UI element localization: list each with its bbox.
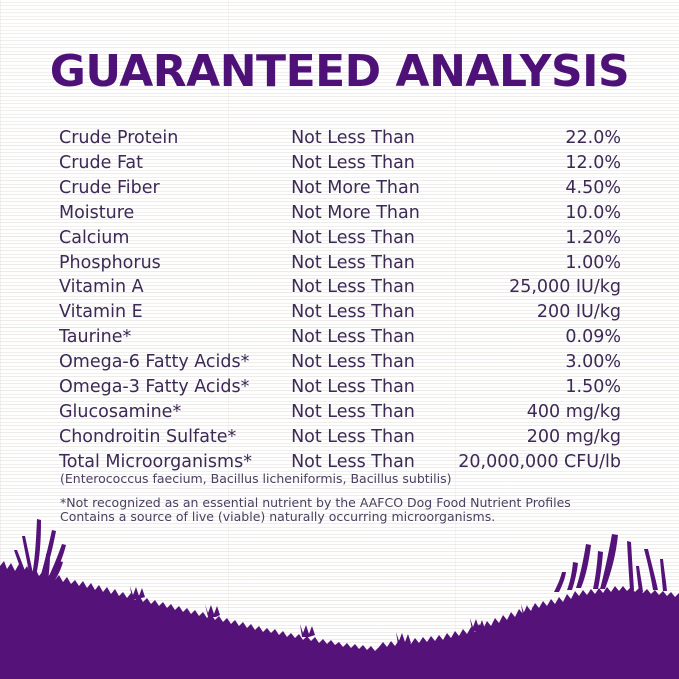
- table-row: Crude Fiber Not More Than 4.50%: [59, 176, 621, 201]
- nutrient-value: 0.09%: [458, 325, 621, 350]
- qualifier-label: Not Less Than: [291, 151, 458, 176]
- qualifier-label: Not Less Than: [291, 325, 458, 350]
- guaranteed-analysis-panel: GUARANTEED ANALYSIS Crude Protein Not Le…: [0, 0, 679, 679]
- table-row: Glucosamine* Not Less Than 400 mg/kg: [59, 400, 621, 425]
- nutrient-label: Phosphorus: [59, 251, 291, 276]
- footnote-aafco: *Not recognized as an essential nutrient…: [60, 496, 640, 511]
- qualifier-label: Not More Than: [291, 201, 458, 226]
- nutrient-value: 200 mg/kg: [458, 425, 621, 450]
- qualifier-label: Not Less Than: [291, 350, 458, 375]
- nutrient-label: Calcium: [59, 226, 291, 251]
- nutrient-label: Moisture: [59, 201, 291, 226]
- nutrient-label: Vitamin E: [59, 300, 291, 325]
- nutrient-value: 1.00%: [458, 251, 621, 276]
- nutrient-value: 10.0%: [458, 201, 621, 226]
- nutrient-value: 200 IU/kg: [458, 300, 621, 325]
- nutrient-value: 400 mg/kg: [458, 400, 621, 425]
- nutrient-value: 20,000,000 CFU/lb: [458, 450, 621, 475]
- table-row: Crude Fat Not Less Than 12.0%: [59, 151, 621, 176]
- grass-silhouette-icon: [0, 514, 679, 679]
- table-row: Calcium Not Less Than 1.20%: [59, 226, 621, 251]
- qualifier-label: Not Less Than: [291, 126, 458, 151]
- nutrient-value: 12.0%: [458, 151, 621, 176]
- nutrient-value: 1.20%: [458, 226, 621, 251]
- nutrient-label: Glucosamine*: [59, 400, 291, 425]
- table-row: Moisture Not More Than 10.0%: [59, 201, 621, 226]
- guaranteed-analysis-table: Crude Protein Not Less Than 22.0% Crude …: [59, 126, 621, 475]
- nutrient-value: 1.50%: [458, 375, 621, 400]
- nutrient-value: 3.00%: [458, 350, 621, 375]
- nutrient-label: Vitamin A: [59, 275, 291, 300]
- nutrient-label: Taurine*: [59, 325, 291, 350]
- nutrient-value: 25,000 IU/kg: [458, 275, 621, 300]
- table-row: Omega-3 Fatty Acids* Not Less Than 1.50%: [59, 375, 621, 400]
- table-row: Chondroitin Sulfate* Not Less Than 200 m…: [59, 425, 621, 450]
- table-row: Vitamin E Not Less Than 200 IU/kg: [59, 300, 621, 325]
- page-title: GUARANTEED ANALYSIS: [0, 47, 679, 97]
- qualifier-label: Not More Than: [291, 176, 458, 201]
- qualifier-label: Not Less Than: [291, 251, 458, 276]
- nutrient-label: Crude Fat: [59, 151, 291, 176]
- table-row: Taurine* Not Less Than 0.09%: [59, 325, 621, 350]
- footnotes-block: (Enterococcus faecium, Bacillus lichenif…: [60, 472, 640, 525]
- nutrient-label: Omega-3 Fatty Acids*: [59, 375, 291, 400]
- nutrient-label: Crude Fiber: [59, 176, 291, 201]
- table-row: Crude Protein Not Less Than 22.0%: [59, 126, 621, 151]
- qualifier-label: Not Less Than: [291, 300, 458, 325]
- footnote-contains: Contains a source of live (viable) natur…: [60, 510, 640, 525]
- table-row: Phosphorus Not Less Than 1.00%: [59, 251, 621, 276]
- footnote-organisms: (Enterococcus faecium, Bacillus lichenif…: [60, 472, 640, 487]
- qualifier-label: Not Less Than: [291, 375, 458, 400]
- qualifier-label: Not Less Than: [291, 400, 458, 425]
- qualifier-label: Not Less Than: [291, 275, 458, 300]
- table-row: Vitamin A Not Less Than 25,000 IU/kg: [59, 275, 621, 300]
- nutrient-label: Crude Protein: [59, 126, 291, 151]
- nutrient-label: Chondroitin Sulfate*: [59, 425, 291, 450]
- nutrient-value: 4.50%: [458, 176, 621, 201]
- nutrient-label: Omega-6 Fatty Acids*: [59, 350, 291, 375]
- qualifier-label: Not Less Than: [291, 226, 458, 251]
- nutrient-value: 22.0%: [458, 126, 621, 151]
- table-row: Omega-6 Fatty Acids* Not Less Than 3.00%: [59, 350, 621, 375]
- table-body: Crude Protein Not Less Than 22.0% Crude …: [59, 126, 621, 475]
- qualifier-label: Not Less Than: [291, 425, 458, 450]
